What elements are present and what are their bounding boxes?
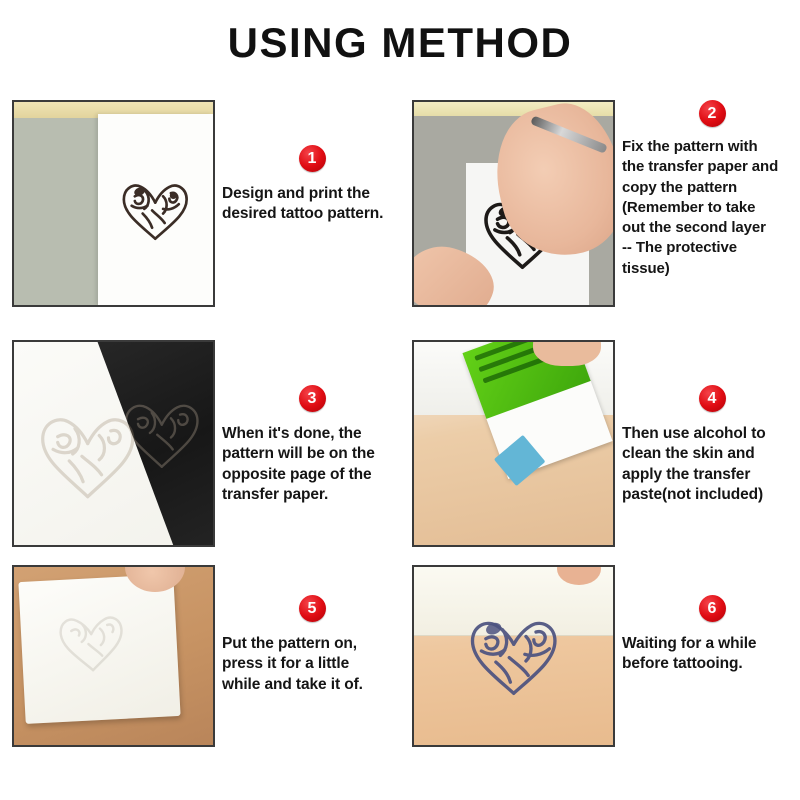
- transferred-tattoo-motif: [458, 592, 569, 717]
- step-number-badge-2: 2: [699, 100, 726, 127]
- step-number-badge-3: 3: [299, 385, 326, 412]
- step-number-badge-6: 6: [699, 595, 726, 622]
- printed-tattoo-pattern-photo: [12, 100, 215, 307]
- white-paper: [98, 114, 213, 305]
- step-caption-6: 6 Waiting for a while before tattooing.: [622, 565, 800, 793]
- step-text-6: Waiting for a while before tattooing.: [622, 634, 800, 675]
- step-text-3: When it's done, the pattern will be on t…: [222, 424, 402, 506]
- transfer-paper: [18, 574, 180, 724]
- step-text-1: Design and print the desired tattoo patt…: [222, 184, 402, 225]
- step-item-2: 2 Fix the pattern with the transfer pape…: [412, 100, 800, 328]
- transferred-pattern-on-skin-photo: [412, 565, 615, 747]
- heart-tattoo-motif: [116, 160, 194, 259]
- page-title: USING METHOD: [0, 22, 800, 64]
- step-text-4: Then use alcohol to clean the skin and a…: [622, 424, 800, 506]
- step-caption-3: 3 When it's done, the pattern will be on…: [222, 340, 402, 568]
- step-item-4: 4 Then use alcohol to clean the skin and…: [412, 340, 800, 568]
- step-item-5: 5 Put the pattern on, press it for a lit…: [12, 565, 402, 793]
- embossed-pattern: [44, 601, 138, 680]
- step-item-1: 1 Design and print the desired tattoo pa…: [12, 100, 402, 328]
- transfer-paper-result-photo: [12, 340, 215, 547]
- steps-grid: 1 Design and print the desired tattoo pa…: [0, 95, 800, 785]
- step-item-3: 3 When it's done, the pattern will be on…: [12, 340, 402, 568]
- alcohol-wipe-on-skin-photo: [412, 340, 615, 547]
- step-caption-5: 5 Put the pattern on, press it for a lit…: [222, 565, 402, 793]
- step-text-5: Put the pattern on, press it for a littl…: [222, 634, 402, 695]
- step-number-badge-5: 5: [299, 595, 326, 622]
- pattern-on-paper: [30, 387, 145, 521]
- step-number-badge-4: 4: [699, 385, 726, 412]
- step-text-2: Fix the pattern with the transfer paper …: [622, 137, 800, 279]
- step-caption-1: 1 Design and print the desired tattoo pa…: [222, 100, 402, 328]
- step-caption-2: 2 Fix the pattern with the transfer pape…: [622, 100, 800, 328]
- step-item-6: 6 Waiting for a while before tattooing.: [412, 565, 800, 793]
- pressing-pattern-on-skin-photo: [12, 565, 215, 747]
- tracing-pattern-with-pen-photo: [412, 100, 615, 307]
- step-caption-4: 4 Then use alcohol to clean the skin and…: [622, 340, 800, 568]
- step-number-badge-1: 1: [299, 145, 326, 172]
